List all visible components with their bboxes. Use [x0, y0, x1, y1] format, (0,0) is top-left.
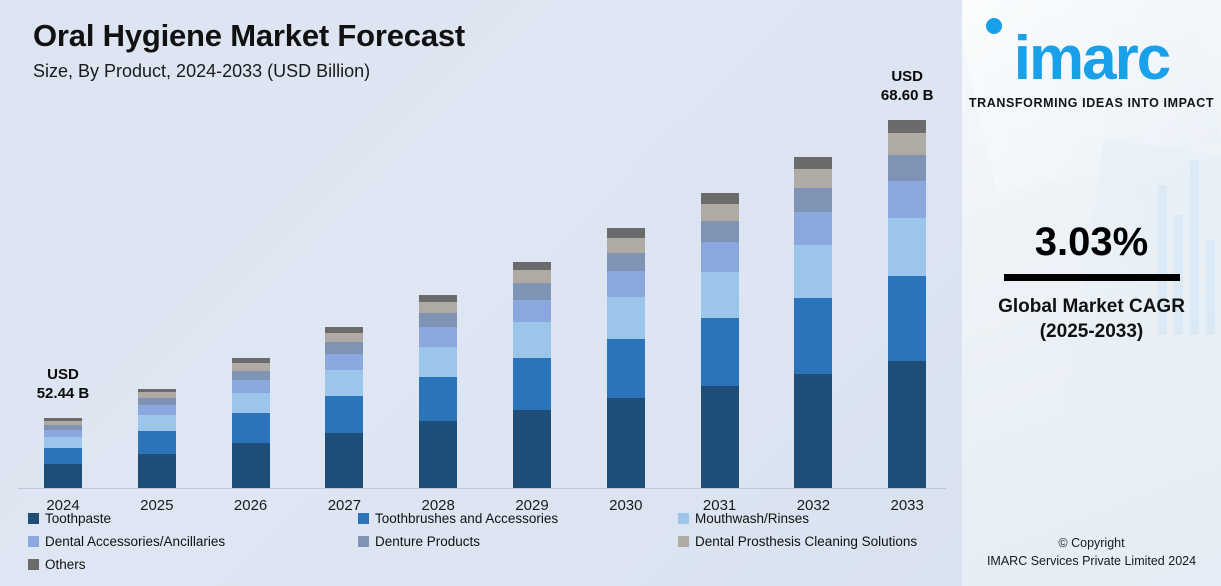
bar-segment: [419, 347, 457, 378]
bar-segment: [325, 396, 363, 433]
bar-segment: [138, 415, 176, 431]
bar-segment: [794, 188, 832, 212]
legend-swatch: [358, 536, 369, 547]
legend-label: Dental Prosthesis Cleaning Solutions: [695, 534, 917, 549]
imarc-logo: imarc TRANSFORMING IDEAS INTO IMPACT: [962, 6, 1221, 110]
bar-segment: [325, 354, 363, 370]
legend-label: Dental Accessories/Ancillaries: [45, 534, 225, 549]
cagr-value: 3.03%: [962, 222, 1221, 262]
bar-segment: [888, 361, 926, 488]
bar-segment: [325, 333, 363, 342]
legend-swatch: [28, 513, 39, 524]
bar-segment: [513, 322, 551, 358]
callout-first-value: USD52.44 B: [8, 366, 118, 404]
bar-segment: [138, 454, 176, 488]
bar-segment: [325, 370, 363, 395]
legend-label: Mouthwash/Rinses: [695, 511, 809, 526]
bar-segment: [138, 405, 176, 415]
bar-segment: [138, 398, 176, 405]
bar-segment: [607, 271, 645, 297]
bar-segment: [607, 297, 645, 338]
bar-segment: [607, 253, 645, 272]
logo-dot-icon: [986, 18, 1002, 34]
bar-2027[interactable]: [325, 327, 363, 488]
stacked-bar-chart: 2024202520262027202820292030203120322033…: [0, 0, 962, 586]
bar-segment: [44, 430, 82, 437]
axis-baseline: [18, 488, 946, 489]
bar-segment: [325, 433, 363, 488]
bar-segment: [232, 363, 270, 370]
callout-line2: 52.44 B: [8, 385, 118, 404]
bar-2025[interactable]: [138, 389, 176, 488]
chart-legend: Toothpaste Toothbrushes and Accessories …: [28, 511, 958, 580]
legend-item-dental-prosthesis-cleaning-solutions[interactable]: Dental Prosthesis Cleaning Solutions: [678, 534, 958, 549]
bar-segment: [888, 218, 926, 276]
bar-segment: [138, 431, 176, 454]
bar-segment: [419, 302, 457, 313]
legend-label: Toothbrushes and Accessories: [375, 511, 558, 526]
bar-segment: [701, 193, 739, 204]
bar-segment: [513, 283, 551, 299]
bar-segment: [419, 313, 457, 327]
bar-2032[interactable]: [794, 157, 832, 488]
legend-row: Others: [28, 557, 958, 572]
bar-segment: [44, 437, 82, 448]
bar-segment: [44, 464, 82, 488]
legend-label: Denture Products: [375, 534, 480, 549]
copyright-line2: IMARC Services Private Limited 2024: [962, 552, 1221, 570]
bar-segment: [419, 327, 457, 346]
bar-segment: [888, 181, 926, 218]
cagr-label-line1: Global Market CAGR: [962, 295, 1221, 320]
bar-segment: [419, 421, 457, 488]
bar-segment: [44, 448, 82, 464]
cagr-block: 3.03% Global Market CAGR (2025-2033): [962, 222, 1221, 344]
legend-row: Toothpaste Toothbrushes and Accessories …: [28, 511, 958, 526]
bar-segment: [513, 262, 551, 270]
bar-segment: [513, 300, 551, 323]
bar-segment: [888, 120, 926, 133]
legend-item-toothpaste[interactable]: Toothpaste: [28, 511, 358, 526]
bar-segment: [607, 339, 645, 399]
legend-swatch: [358, 513, 369, 524]
bar-segment: [232, 371, 270, 380]
bar-segment: [419, 295, 457, 302]
chart-panel: Oral Hygiene Market Forecast Size, By Pr…: [0, 0, 962, 586]
bar-2031[interactable]: [701, 193, 739, 488]
legend-label: Toothpaste: [45, 511, 111, 526]
bar-segment: [607, 238, 645, 253]
bar-segment: [325, 342, 363, 354]
bar-segment: [607, 398, 645, 488]
copyright-notice: © Copyright IMARC Services Private Limit…: [962, 534, 1221, 570]
bar-segment: [794, 169, 832, 188]
callout-line2: 68.60 B: [852, 87, 962, 106]
bar-segment: [701, 386, 739, 488]
callout-last-value: USD68.60 B: [852, 68, 962, 106]
divider: [1004, 274, 1180, 281]
bar-2024[interactable]: [44, 418, 82, 488]
legend-row: Dental Accessories/Ancillaries Denture P…: [28, 534, 958, 549]
bar-segment: [701, 242, 739, 272]
infographic-root: Oral Hygiene Market Forecast Size, By Pr…: [0, 0, 1221, 586]
bar-segment: [232, 380, 270, 393]
legend-item-denture-products[interactable]: Denture Products: [358, 534, 678, 549]
legend-item-toothbrushes-and-accessories[interactable]: Toothbrushes and Accessories: [358, 511, 678, 526]
bar-segment: [888, 133, 926, 154]
bar-2028[interactable]: [419, 295, 457, 488]
bar-2030[interactable]: [607, 228, 645, 488]
legend-swatch: [28, 536, 39, 547]
bar-segment: [794, 212, 832, 245]
legend-label: Others: [45, 557, 86, 572]
bar-2026[interactable]: [232, 358, 270, 488]
bar-2033[interactable]: [888, 120, 926, 488]
brand-panel: imarc TRANSFORMING IDEAS INTO IMPACT 3.0…: [962, 0, 1221, 586]
bar-segment: [888, 276, 926, 361]
bar-segment: [513, 270, 551, 283]
bar-segment: [888, 155, 926, 181]
logo-wordmark: imarc: [962, 6, 1221, 90]
bar-segment: [607, 228, 645, 237]
legend-item-mouthwash-rinses[interactable]: Mouthwash/Rinses: [678, 511, 958, 526]
bar-segment: [794, 245, 832, 297]
bar-segment: [794, 298, 832, 374]
bar-segment: [513, 358, 551, 410]
legend-item-dental-accessories-ancillaries[interactable]: Dental Accessories/Ancillaries: [28, 534, 358, 549]
callout-line1: USD: [852, 68, 962, 87]
bar-segment: [701, 318, 739, 386]
copyright-line1: © Copyright: [962, 534, 1221, 552]
bar-segment: [232, 413, 270, 443]
bar-segment: [794, 374, 832, 488]
bar-segment: [794, 157, 832, 169]
bar-segment: [232, 443, 270, 488]
bar-2029[interactable]: [513, 262, 551, 488]
legend-swatch: [678, 536, 689, 547]
bar-segment: [232, 393, 270, 414]
logo-tagline: TRANSFORMING IDEAS INTO IMPACT: [962, 96, 1221, 110]
bar-segment: [419, 377, 457, 421]
legend-item-others[interactable]: Others: [28, 557, 358, 572]
cagr-label-line2: (2025-2033): [962, 320, 1221, 345]
callout-line1: USD: [8, 366, 118, 385]
bar-segment: [701, 272, 739, 319]
bar-segment: [701, 204, 739, 221]
legend-swatch: [678, 513, 689, 524]
bar-segment: [513, 410, 551, 488]
legend-swatch: [28, 559, 39, 570]
bar-segment: [701, 221, 739, 242]
